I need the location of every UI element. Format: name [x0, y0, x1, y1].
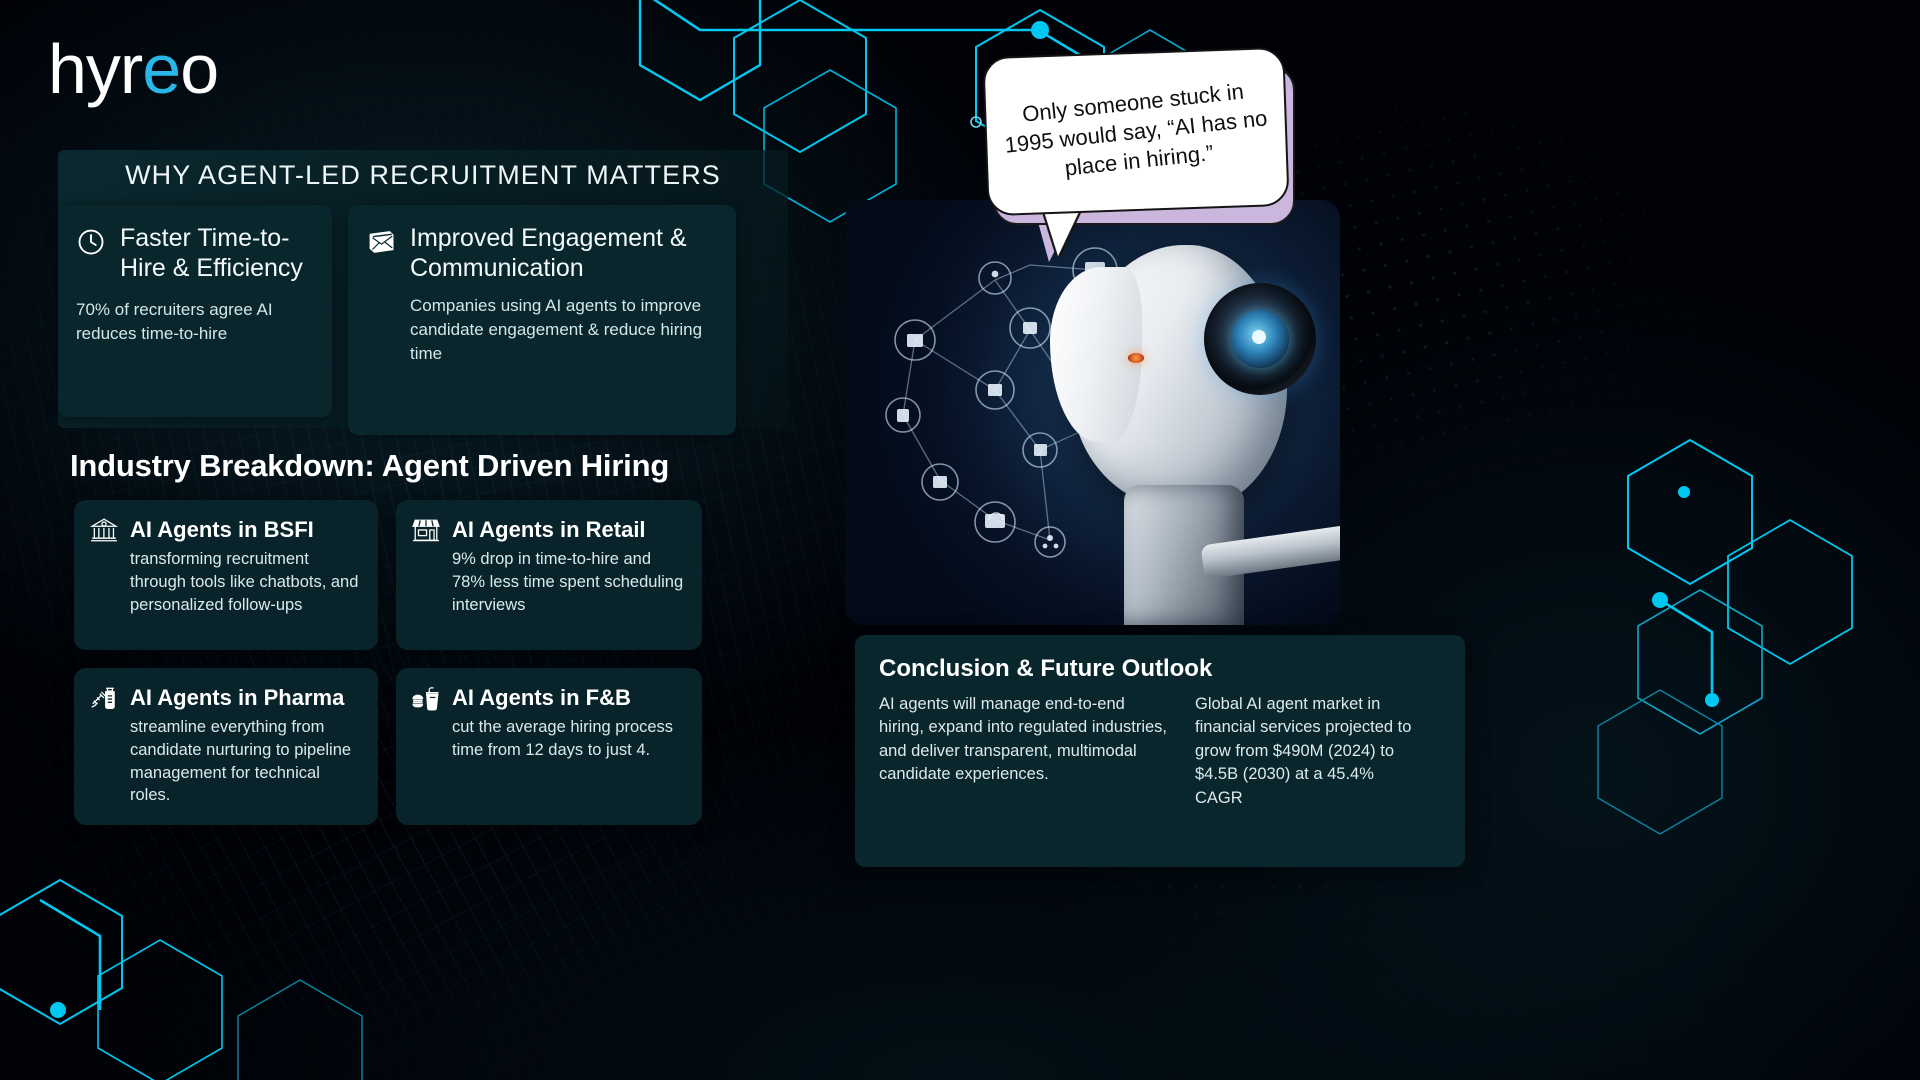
robot-eye-iris [1231, 310, 1289, 368]
conclusion-text-left: AI agents will manage end-to-end hiring,… [879, 693, 1169, 810]
industry-cards-row: AI Agents in Pharma streamline everythin… [74, 668, 724, 825]
industry-card-heading: AI Agents in Pharma [130, 685, 344, 711]
industry-card-header: AI Agents in Pharma [90, 684, 360, 712]
conclusion-columns: AI agents will manage end-to-end hiring,… [879, 693, 1439, 810]
why-card-improved-engagement[interactable]: Improved Engagement & Communication Comp… [348, 205, 736, 435]
storefront-icon [412, 516, 440, 544]
industry-card-body: cut the average hiring process time from… [452, 716, 684, 762]
speech-bubble-text: Only someone stuck in 1995 would say, “A… [983, 73, 1288, 191]
industry-card-retail[interactable]: AI Agents in Retail 9% drop in time-to-h… [396, 500, 702, 650]
robot-eye-assembly [1204, 283, 1316, 395]
industry-cards-row: AI Agents in BSFI transforming recruitme… [74, 500, 724, 650]
robot-head [1032, 205, 1332, 625]
industry-card-body: transforming recruitment through tools l… [130, 548, 360, 616]
brand-logo-text-secondary: o [180, 36, 218, 103]
infographic-canvas: hyr e o WHY AGENT-LED RECRUITMENT MATTER… [0, 0, 1920, 1080]
industry-card-heading: AI Agents in F&B [452, 685, 631, 711]
burger-drink-icon [412, 684, 440, 712]
robot-sensor-eye [1128, 353, 1144, 363]
why-card-header: Faster Time-to-Hire & Efficiency [76, 223, 312, 284]
brand-logo[interactable]: hyr e o [48, 36, 218, 103]
robot-illustration-panel [845, 200, 1340, 625]
industry-cards-grid: AI Agents in BSFI transforming recruitme… [74, 500, 724, 843]
industry-card-body: 9% drop in time-to-hire and 78% less tim… [452, 548, 684, 616]
why-card-header: Improved Engagement & Communication [366, 223, 716, 284]
brand-logo-accent-letter: e [142, 36, 180, 103]
clock-icon [76, 227, 106, 257]
robot-eye-highlight [1252, 330, 1266, 344]
why-section-title: WHY AGENT-LED RECRUITMENT MATTERS [58, 160, 788, 191]
conclusion-text-right: Global AI agent market in financial serv… [1195, 693, 1425, 810]
bank-icon [90, 516, 118, 544]
why-card-heading: Improved Engagement & Communication [410, 223, 716, 284]
conclusion-title: Conclusion & Future Outlook [879, 655, 1439, 683]
why-card-heading: Faster Time-to-Hire & Efficiency [120, 223, 312, 284]
industry-card-pharma[interactable]: AI Agents in Pharma streamline everythin… [74, 668, 378, 825]
speech-bubble-body: Only someone stuck in 1995 would say, “A… [982, 47, 1289, 216]
industry-card-fnb[interactable]: AI Agents in F&B cut the average hiring … [396, 668, 702, 825]
industry-section-title: Industry Breakdown: Agent Driven Hiring [70, 448, 669, 484]
why-card-body: 70% of recruiters agree AI reduces time-… [76, 298, 312, 346]
conclusion-panel[interactable]: Conclusion & Future Outlook AI agents wi… [855, 635, 1465, 867]
syringe-vial-icon [90, 684, 118, 712]
industry-card-bsfi[interactable]: AI Agents in BSFI transforming recruitme… [74, 500, 378, 650]
why-card-body: Companies using AI agents to improve can… [410, 294, 716, 366]
speech-bubble: Only someone stuck in 1995 would say, “A… [985, 52, 1295, 247]
why-card-faster-time-to-hire[interactable]: Faster Time-to-Hire & Efficiency 70% of … [58, 205, 332, 417]
industry-card-heading: AI Agents in Retail [452, 517, 646, 543]
brand-logo-text-primary: hyr [48, 36, 142, 103]
envelope-icon [366, 227, 396, 257]
industry-card-heading: AI Agents in BSFI [130, 517, 314, 543]
industry-card-header: AI Agents in F&B [412, 684, 684, 712]
industry-card-header: AI Agents in Retail [412, 516, 684, 544]
industry-card-body: streamline everything from candidate nur… [130, 716, 360, 807]
industry-card-header: AI Agents in BSFI [90, 516, 360, 544]
why-cards-container: Faster Time-to-Hire & Efficiency 70% of … [58, 205, 788, 435]
